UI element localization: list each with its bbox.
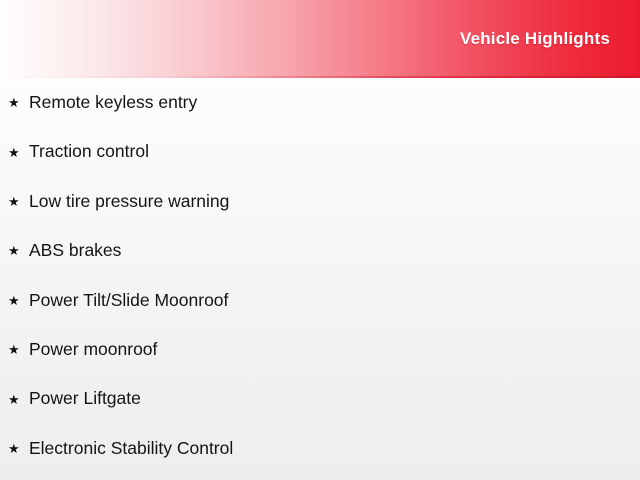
feature-label: ABS brakes (29, 241, 640, 260)
feature-label: Electronic Stability Control (29, 439, 640, 458)
star-icon: ★ (8, 442, 29, 455)
list-item: ★ Remote keyless entry (0, 78, 640, 127)
vehicle-highlights-list: ★ Remote keyless entry ★ Traction contro… (0, 78, 640, 473)
feature-label: Power Liftgate (29, 389, 640, 408)
star-icon: ★ (8, 244, 29, 257)
feature-label: Low tire pressure warning (29, 192, 640, 211)
list-item: ★ Power Tilt/Slide Moonroof (0, 276, 640, 325)
list-item: ★ ABS brakes (0, 226, 640, 275)
feature-label: Remote keyless entry (29, 93, 640, 112)
list-item: ★ Power Liftgate (0, 374, 640, 423)
star-icon: ★ (8, 393, 29, 406)
star-icon: ★ (8, 96, 29, 109)
page-header: Vehicle Highlights (0, 0, 640, 78)
page-title: Vehicle Highlights (460, 29, 610, 49)
feature-label: Power moonroof (29, 340, 640, 359)
list-item: ★ Electronic Stability Control (0, 424, 640, 473)
list-item: ★ Low tire pressure warning (0, 177, 640, 226)
feature-label: Power Tilt/Slide Moonroof (29, 291, 640, 310)
star-icon: ★ (8, 146, 29, 159)
star-icon: ★ (8, 343, 29, 356)
star-icon: ★ (8, 294, 29, 307)
list-item: ★ Power moonroof (0, 325, 640, 374)
vehicle-highlights-page: Vehicle Highlights ★ Remote keyless entr… (0, 0, 640, 480)
star-icon: ★ (8, 195, 29, 208)
feature-label: Traction control (29, 142, 640, 161)
list-item: ★ Traction control (0, 127, 640, 176)
